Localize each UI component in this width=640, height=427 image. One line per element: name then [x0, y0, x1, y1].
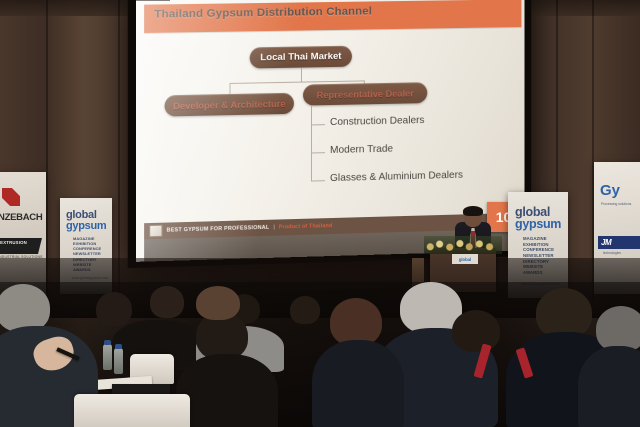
conference-photo: Thailand Gypsum Distribution Channel Loc… [0, 0, 640, 427]
right-banner-title: Gy [600, 182, 620, 199]
chart-leaf-construction-dealers: Construction Dealers [330, 115, 424, 128]
connector-tick [311, 180, 325, 181]
connector-line [311, 105, 312, 181]
right-banner-sub: Processing solutions [601, 202, 631, 206]
audience-shoulders [176, 354, 278, 427]
audience-shoulders [578, 346, 640, 427]
chart-leaf-glasses-aluminium-dealers: Glasses & Aluminium Dealers [330, 170, 463, 184]
chair-back [74, 394, 190, 427]
audience-head [536, 288, 592, 338]
wall-seam [118, 0, 120, 300]
banner-title-line2: gypsum [66, 220, 106, 232]
right-banner-logo: JM [598, 236, 640, 249]
water-bottle [103, 344, 112, 370]
footer-separator: | [273, 225, 274, 231]
bottle-cap [115, 344, 122, 349]
banner-title-left: global gypsum [66, 210, 106, 231]
right-banner-logo-sub: technologies [603, 251, 621, 255]
chart-node-representative-dealer: Representative Dealer [303, 82, 427, 105]
banner-list-item: NEWSLETTER [73, 251, 101, 256]
speaker-hair [463, 206, 483, 216]
chart-node-root: Local Thai Market [250, 46, 352, 69]
audience-head [150, 286, 184, 318]
audience-area [0, 282, 640, 427]
bottle-cap [104, 340, 111, 345]
audience-shoulders [312, 340, 404, 427]
flower-arrangement [424, 236, 502, 254]
footer-tagline: BEST GYPSUM FOR PROFESSIONAL [167, 225, 270, 234]
chart-leaf-modern-trade: Modern Trade [330, 144, 393, 156]
footer-origin: Product of Thailand [279, 223, 333, 231]
grenzebach-badge: EXTRUSION [0, 238, 42, 254]
grenzebach-logo-icon [2, 188, 20, 206]
grenzebach-name: ENZEBACH [0, 212, 42, 223]
audience-head [96, 292, 132, 326]
banner-title-line2: gypsum [515, 217, 561, 231]
audience-head [330, 298, 382, 346]
podium-name-plate: global [452, 254, 478, 264]
grenzebach-badge-label: EXTRUSION [0, 238, 41, 245]
brand-logo-icon [149, 225, 162, 238]
connector-tick [311, 152, 325, 153]
podium-plate-label: global [459, 257, 471, 262]
audience-head [0, 284, 50, 332]
audience-head [196, 286, 240, 320]
water-bottle [114, 348, 123, 374]
connector-line [301, 68, 302, 82]
right-banner-logo-label: JM [601, 238, 611, 247]
audience-head [452, 310, 500, 352]
chart-node-developer-architecture: Developer & Architecture [165, 93, 294, 117]
org-chart: Local Thai Market Developer & Architectu… [136, 29, 524, 223]
wall-seam [46, 0, 48, 300]
banner-title-right: global gypsum [515, 206, 561, 230]
connector-tick [311, 124, 325, 125]
audience-head [290, 296, 320, 324]
